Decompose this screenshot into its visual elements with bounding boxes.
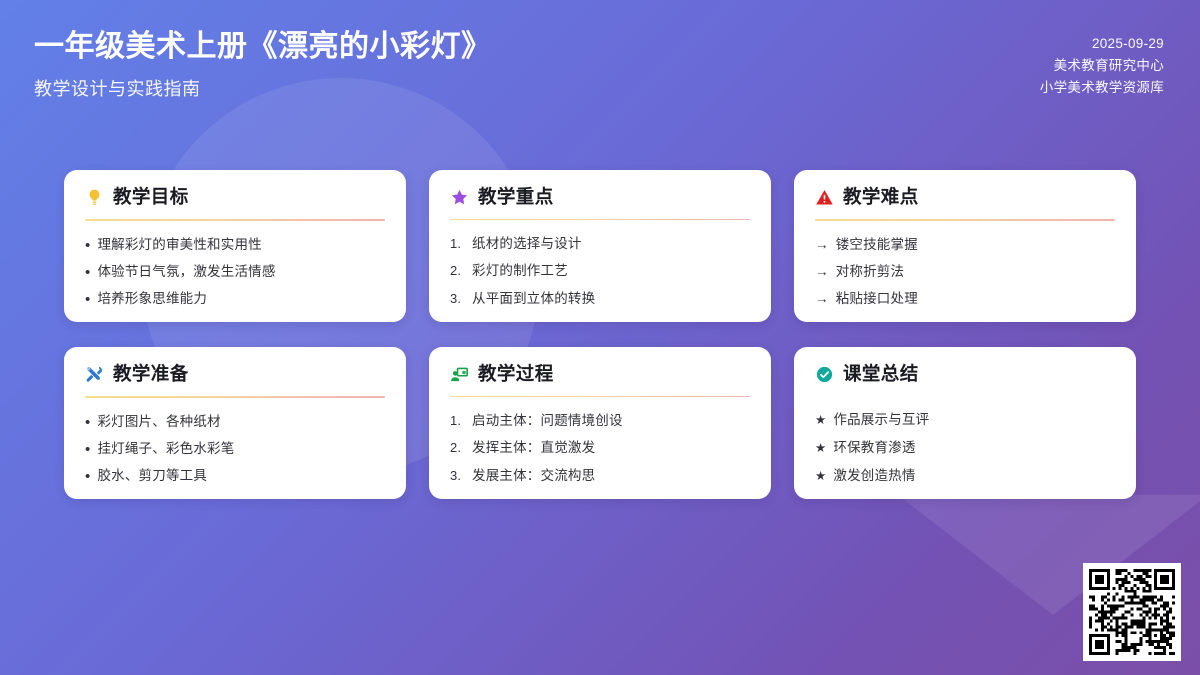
- list-item: •理解彩灯的审美性和实用性: [85, 235, 385, 254]
- card-item-list: ★作品展示与互评★环保教育渗透★激发创造热情: [815, 410, 1115, 485]
- list-item-marker: →: [815, 262, 829, 281]
- qr-code: [1089, 569, 1175, 655]
- page-subtitle: 教学设计与实践指南: [34, 75, 492, 101]
- card-divider: [815, 219, 1115, 221]
- card-teaching-goals[interactable]: 教学目标•理解彩灯的审美性和实用性•体验节日气氛，激发生活情感•培养形象思维能力: [64, 170, 406, 322]
- list-item-marker: →: [815, 289, 829, 308]
- list-item-marker: 2.: [450, 439, 465, 457]
- card-title: 课堂总结: [843, 365, 919, 384]
- qr-code-container[interactable]: [1083, 563, 1181, 661]
- meta-organization: 美术教育研究中心: [1040, 55, 1164, 77]
- list-item-marker: 3.: [450, 467, 465, 485]
- list-item-marker: •: [85, 469, 90, 484]
- card-teaching-key-points[interactable]: 教学重点1.纸材的选择与设计2.彩灯的制作工艺3.从平面到立体的转换: [429, 170, 771, 322]
- list-item-text: 彩灯图片、各种纸材: [97, 412, 385, 431]
- list-item: •培养形象思维能力: [85, 289, 385, 308]
- card-item-list: 1.纸材的选择与设计2.彩灯的制作工艺3.从平面到立体的转换: [450, 234, 750, 308]
- list-item: •彩灯图片、各种纸材: [85, 412, 385, 431]
- card-item-list: •彩灯图片、各种纸材•挂灯绳子、彩色水彩笔•胶水、剪刀等工具: [85, 412, 385, 485]
- list-item: •胶水、剪刀等工具: [85, 466, 385, 485]
- slide-header: 一年级美术上册《漂亮的小彩灯》 教学设计与实践指南 2025-09-29 美术教…: [0, 0, 1200, 150]
- list-item-marker: •: [85, 238, 90, 253]
- header-meta-block: 2025-09-29 美术教育研究中心 小学美术教学资源库: [1040, 28, 1164, 99]
- warning-triangle-icon: [815, 188, 834, 207]
- list-item-marker: •: [85, 265, 90, 280]
- list-item-marker: •: [85, 292, 90, 307]
- list-item-marker: •: [85, 442, 90, 457]
- card-title: 教学重点: [478, 188, 554, 207]
- card-header: 教学过程: [450, 365, 750, 384]
- card-header: 教学难点: [815, 188, 1115, 207]
- card-header: 教学重点: [450, 188, 750, 207]
- card-divider: [450, 396, 750, 397]
- card-divider: [85, 219, 385, 221]
- card-header: 教学目标: [85, 188, 385, 207]
- list-item: 1.纸材的选择与设计: [450, 234, 750, 253]
- list-item: →对称折剪法: [815, 262, 1115, 281]
- card-title: 教学过程: [478, 365, 554, 384]
- lightbulb-icon: [85, 188, 104, 207]
- list-item-marker: →: [815, 235, 829, 254]
- list-item: •挂灯绳子、彩色水彩笔: [85, 439, 385, 458]
- list-item: •体验节日气氛，激发生活情感: [85, 262, 385, 281]
- card-divider: [85, 396, 385, 398]
- card-title: 教学难点: [843, 188, 919, 207]
- list-item-text: 粘贴接口处理: [836, 289, 1115, 308]
- list-item-marker: 3.: [450, 290, 465, 308]
- card-teaching-process[interactable]: 教学过程1.启动主体：问题情境创设2.发挥主体：直觉激发3.发展主体：交流构思: [429, 347, 771, 499]
- header-title-block: 一年级美术上册《漂亮的小彩灯》 教学设计与实践指南: [34, 28, 492, 101]
- card-item-list: 1.启动主体：问题情境创设2.发挥主体：直觉激发3.发展主体：交流构思: [450, 411, 750, 485]
- list-item: 3.发展主体：交流构思: [450, 466, 750, 485]
- list-item-marker: ★: [815, 412, 826, 430]
- list-item-text: 发挥主体：直觉激发: [472, 438, 750, 457]
- list-item-text: 彩灯的制作工艺: [472, 261, 750, 280]
- list-item: 2.发挥主体：直觉激发: [450, 438, 750, 457]
- meta-source: 小学美术教学资源库: [1040, 77, 1164, 99]
- card-divider: [450, 219, 750, 220]
- list-item-text: 作品展示与互评: [833, 410, 1115, 429]
- list-item-text: 纸材的选择与设计: [472, 234, 750, 253]
- list-item: ★环保教育渗透: [815, 438, 1115, 458]
- list-item: 3.从平面到立体的转换: [450, 289, 750, 308]
- check-circle-icon: [815, 365, 834, 384]
- list-item-marker: 1.: [450, 235, 465, 253]
- presenter-icon: [450, 365, 469, 384]
- list-item-marker: ★: [815, 468, 826, 486]
- list-item-marker: ★: [815, 440, 826, 458]
- card-item-list: •理解彩灯的审美性和实用性•体验节日气氛，激发生活情感•培养形象思维能力: [85, 235, 385, 308]
- list-item: →镂空技能掌握: [815, 235, 1115, 254]
- list-item-marker: 1.: [450, 412, 465, 430]
- list-item-marker: •: [85, 415, 90, 430]
- tools-icon: [85, 365, 104, 384]
- star-icon: [450, 188, 469, 207]
- list-item: 2.彩灯的制作工艺: [450, 261, 750, 280]
- page-title: 一年级美术上册《漂亮的小彩灯》: [34, 28, 492, 66]
- list-item-text: 对称折剪法: [836, 262, 1115, 281]
- meta-date: 2025-09-29: [1040, 33, 1164, 55]
- list-item-text: 培养形象思维能力: [97, 289, 385, 308]
- list-item-text: 从平面到立体的转换: [472, 289, 750, 308]
- list-item-text: 胶水、剪刀等工具: [97, 466, 385, 485]
- list-item-text: 启动主体：问题情境创设: [472, 411, 750, 430]
- card-title: 教学目标: [113, 188, 189, 207]
- list-item-text: 激发创造热情: [833, 466, 1115, 485]
- list-item-text: 发展主体：交流构思: [472, 466, 750, 485]
- list-item: →粘贴接口处理: [815, 289, 1115, 308]
- list-item-text: 镂空技能掌握: [836, 235, 1115, 254]
- card-teaching-difficulties[interactable]: 教学难点→镂空技能掌握→对称折剪法→粘贴接口处理: [794, 170, 1136, 322]
- list-item-marker: 2.: [450, 262, 465, 280]
- card-header: 课堂总结: [815, 365, 1115, 384]
- card-header: 教学准备: [85, 365, 385, 384]
- list-item-text: 体验节日气氛，激发生活情感: [97, 262, 385, 281]
- card-class-summary[interactable]: 课堂总结★作品展示与互评★环保教育渗透★激发创造热情: [794, 347, 1136, 499]
- list-item: 1.启动主体：问题情境创设: [450, 411, 750, 430]
- card-item-list: →镂空技能掌握→对称折剪法→粘贴接口处理: [815, 235, 1115, 308]
- card-grid: 教学目标•理解彩灯的审美性和实用性•体验节日气氛，激发生活情感•培养形象思维能力…: [64, 170, 1136, 499]
- slide-canvas: 一年级美术上册《漂亮的小彩灯》 教学设计与实践指南 2025-09-29 美术教…: [0, 0, 1200, 675]
- list-item: ★作品展示与互评: [815, 410, 1115, 430]
- card-title: 教学准备: [113, 365, 189, 384]
- list-item: ★激发创造热情: [815, 466, 1115, 486]
- list-item-text: 环保教育渗透: [833, 438, 1115, 457]
- list-item-text: 理解彩灯的审美性和实用性: [97, 235, 385, 254]
- card-teaching-preparation[interactable]: 教学准备•彩灯图片、各种纸材•挂灯绳子、彩色水彩笔•胶水、剪刀等工具: [64, 347, 406, 499]
- list-item-text: 挂灯绳子、彩色水彩笔: [97, 439, 385, 458]
